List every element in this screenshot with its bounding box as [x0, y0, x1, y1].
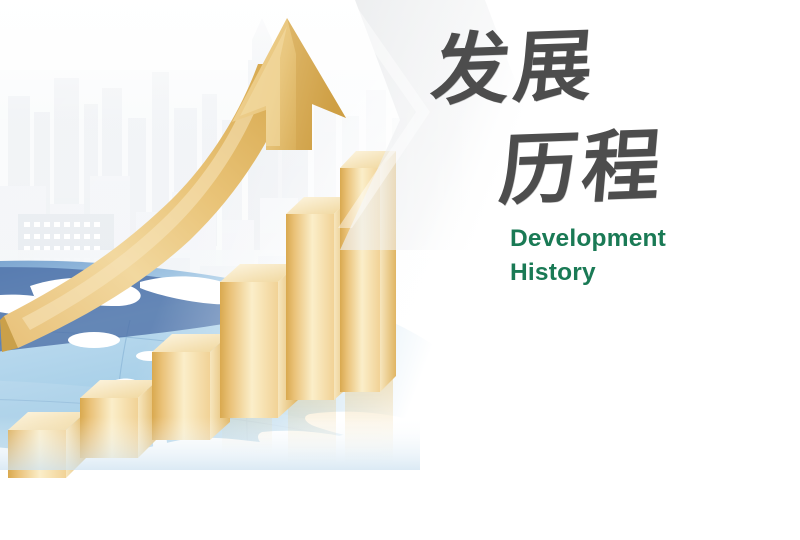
english-title-line-2: History: [510, 259, 596, 287]
title-block: 发展 历程 Development History: [428, 22, 728, 282]
chinese-title-line-1: 发展: [428, 23, 600, 115]
chinese-title-line-2: 历程: [496, 123, 668, 215]
english-title-line-1: Development: [510, 225, 666, 253]
banner-graphic: 发展 历程 Development History: [0, 0, 800, 540]
